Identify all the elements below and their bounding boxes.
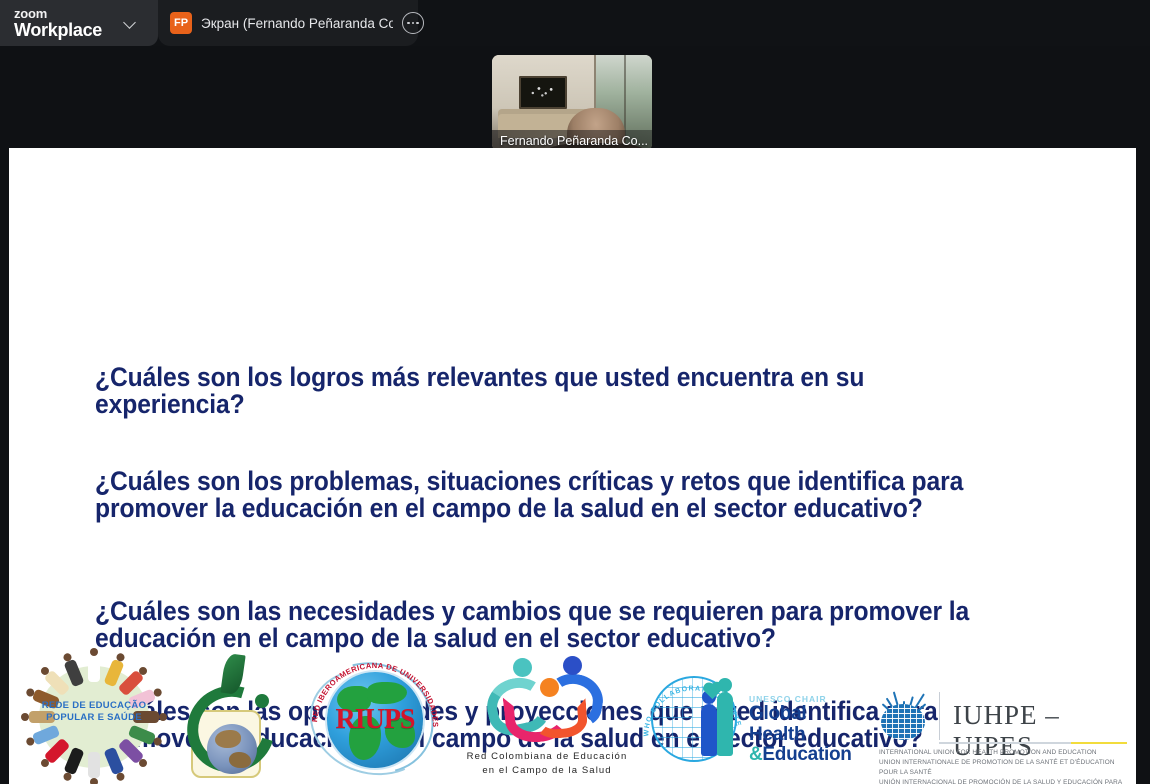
more-options-icon[interactable] (402, 12, 424, 34)
logo-unesco-wordmark: UNESCO CHAIR Global Health &Education (749, 694, 852, 766)
logo-riups: RED IBEROAMERICANA DE UNIVERSIDADES PROM… (305, 652, 445, 780)
video-wall-picture (519, 76, 567, 109)
iuhpe-globe-icon (877, 690, 933, 742)
zoom-wordmark: zoom (14, 7, 102, 20)
ampersand: & (749, 744, 762, 765)
presentation-slide: ¿Cuáles son los logros más relevantes qu… (9, 148, 1136, 784)
shared-screen-stage: ¿Cuáles son los logros más relevantes qu… (9, 148, 1136, 784)
person-figure-icon (701, 704, 717, 756)
logo-people-waves-mark (483, 656, 611, 748)
person-figure (64, 747, 85, 776)
globe-icon (207, 724, 257, 774)
person-figure (88, 656, 100, 682)
person-figure (88, 752, 100, 778)
tab-shared-screen[interactable]: FP Экран (Fernando Peñaranda Corr (158, 0, 418, 46)
logo-unesco-line2: Education (762, 744, 851, 765)
logo-green-globe-leaf (179, 652, 297, 780)
logo-red-colombiana: Red Colombiana de Educación en el Campo … (461, 650, 633, 782)
slide-question-2: ¿Cuáles son los problemas, situaciones c… (95, 468, 1025, 523)
logo-iuhpe-subtitle: INTERNATIONAL UNION FOR HEALTH PROMOTION… (879, 748, 1127, 784)
tab-title: Экран (Fernando Peñaranda Corr (201, 16, 393, 31)
logo-riups-acronym: RIUPS (305, 704, 445, 736)
sphere-icon (881, 704, 925, 740)
participant-name: Fernando Peñaranda Co... (492, 134, 648, 148)
logo-rule-grey (939, 742, 1071, 744)
workplace-wordmark: Workplace (14, 21, 102, 39)
logo-rule-yellow (1071, 742, 1127, 744)
logo-unesco-chair-global-health-education: WHO COLLABORATING CENTER UNESCO CHAIR Gl… (645, 670, 851, 770)
person-figure (103, 747, 124, 776)
bud-icon (255, 694, 269, 708)
chevron-down-icon[interactable] (124, 17, 136, 29)
person-figure (117, 738, 144, 765)
titlebar: zoom Workplace FP Экран (Fernando Peñara… (0, 0, 1150, 46)
person-figure-icon-2 (717, 692, 733, 756)
zoom-workplace-home-button[interactable]: zoom Workplace (0, 0, 158, 46)
logo-unesco-line2-wrap: &Education (749, 745, 852, 766)
participant-video-thumbnail[interactable]: Fernando Peñaranda Co... (492, 55, 652, 151)
slide-question-1: ¿Cuáles son los logros más relevantes qu… (95, 364, 1006, 419)
zoom-logo: zoom Workplace (14, 7, 102, 39)
slide-logo-strip: REDE DE EDUCAÇÃO POPULAR E SAÚDE (9, 644, 1136, 784)
logo-red-colombiana-text: Red Colombiana de Educación en el Campo … (461, 750, 633, 779)
zoom-app-window: zoom Workplace FP Экран (Fernando Peñara… (0, 0, 1150, 784)
logo-iuhpe-uipes: IUHPE – UIPES INTERNATIONAL UNION FOR HE… (877, 686, 1127, 778)
logo-rede-text: REDE DE EDUCAÇÃO POPULAR E SAÚDE (23, 700, 165, 724)
logo-divider (939, 692, 940, 740)
logo-unesco-line1: Global Health (749, 704, 852, 745)
person-figure (64, 658, 85, 687)
avatar: FP (170, 12, 192, 34)
logo-rede-educacao-popular-e-saude: REDE DE EDUCAÇÃO POPULAR E SAÚDE (23, 650, 165, 782)
